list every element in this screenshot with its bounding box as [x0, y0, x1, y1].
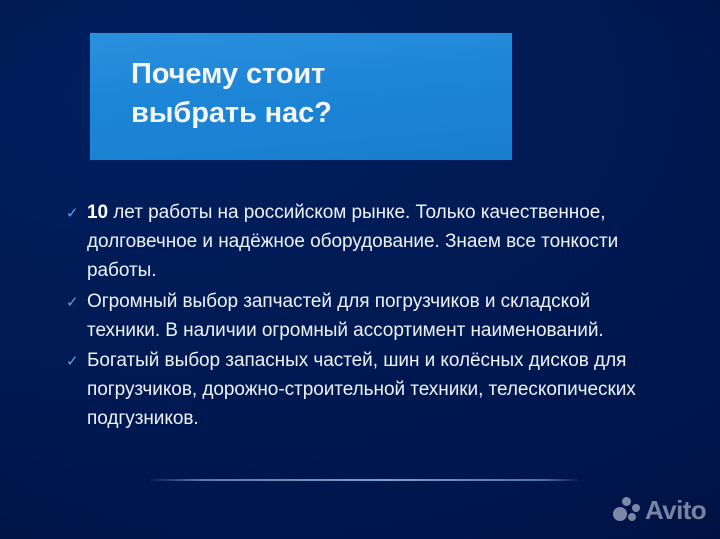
- slide-canvas: Почему стоит выбрать нас? ✓ 10 лет работ…: [0, 0, 720, 539]
- check-icon: ✓: [66, 292, 87, 314]
- list-item: ✓ Огромный выбор запчастей для погрузчик…: [66, 287, 666, 345]
- list-item: ✓ Богатый выбор запасных частей, шин и к…: [66, 346, 666, 434]
- list-item-text: Огромный выбор запчастей для погрузчиков…: [87, 287, 666, 345]
- list-item-body: Богатый выбор запасных частей, шин и кол…: [87, 350, 636, 429]
- page-title: Почему стоит выбрать нас?: [131, 55, 491, 133]
- header-banner: Почему стоит выбрать нас?: [90, 33, 512, 160]
- check-icon: ✓: [66, 203, 87, 225]
- list-item-body: лет работы на российском рынке. Только к…: [87, 202, 618, 281]
- list-item: ✓ 10 лет работы на российском рынке. Тол…: [66, 198, 666, 286]
- check-icon: ✓: [66, 351, 87, 373]
- list-item-text: 10 лет работы на российском рынке. Тольк…: [87, 198, 666, 286]
- benefits-list: ✓ 10 лет работы на российском рынке. Тол…: [66, 198, 666, 435]
- divider: [150, 479, 578, 481]
- list-item-text: Богатый выбор запасных частей, шин и кол…: [87, 346, 666, 434]
- list-item-lead: 10: [87, 202, 108, 223]
- list-item-body: Огромный выбор запчастей для погрузчиков…: [87, 291, 604, 341]
